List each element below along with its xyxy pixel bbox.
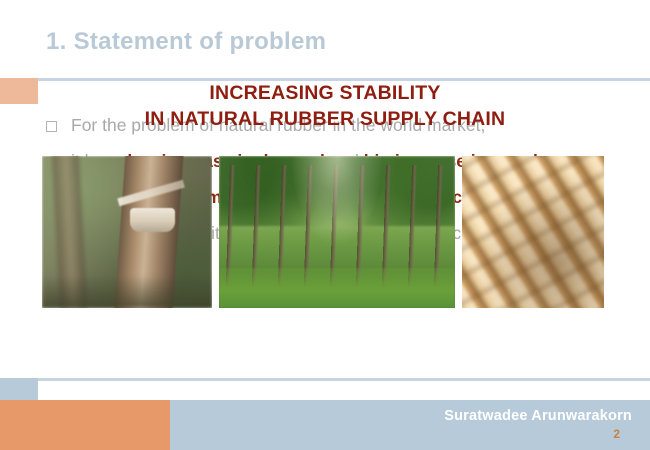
slide-number: 2 [613, 427, 620, 441]
decor-accent-bottom-left [0, 378, 38, 400]
heading-line-2: IN NATURAL RUBBER SUPPLY CHAIN [0, 106, 650, 132]
photo-1-ground [42, 275, 212, 308]
photo-rubber-tree-tapping-cup [42, 156, 212, 308]
photo-crepe-rubber-sheets [462, 156, 604, 308]
slide-canvas: 1. Statement of problem For the problem … [0, 0, 650, 450]
photo-3-vignette [462, 156, 604, 308]
photo-rubber-tree-plantation [219, 156, 455, 308]
photo-strip [42, 156, 604, 308]
photo-2-grass [219, 268, 455, 308]
photo-2-sunlight [290, 156, 384, 247]
slide-heading: INCREASING STABILITY IN NATURAL RUBBER S… [0, 80, 650, 132]
page-title: 1. Statement of problem [46, 28, 326, 56]
footer-author: Suratwadee Arunwarakorn [444, 408, 632, 424]
photo-1-latex-cup [130, 208, 174, 232]
footer-orange-block [0, 400, 170, 450]
heading-line-1: INCREASING STABILITY [0, 80, 650, 106]
decor-rule-bottom [38, 378, 650, 381]
